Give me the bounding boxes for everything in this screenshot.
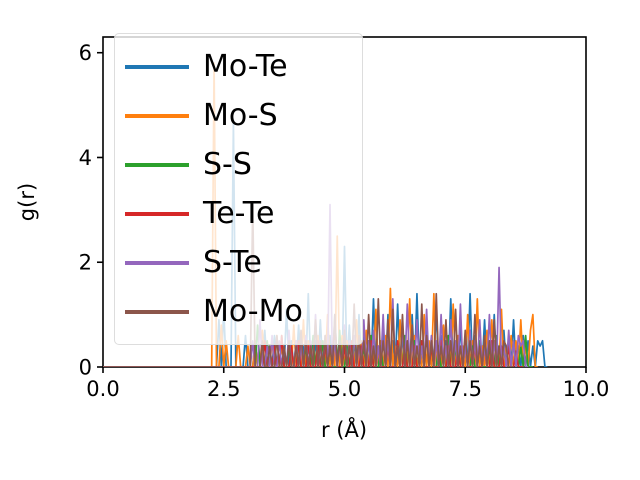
legend-item-4[interactable]: S-Te	[125, 241, 352, 285]
legend-swatch-mo-te	[125, 65, 189, 69]
legend-label-s-s: S-S	[203, 150, 252, 180]
legend-item-3[interactable]: Te-Te	[125, 192, 352, 236]
x-tick-label: 10.0	[563, 377, 610, 401]
x-tick-label: 2.5	[207, 377, 240, 401]
figure: 0.02.55.07.510.0 0246 r (Å) g(r) Mo-Te M…	[0, 0, 640, 480]
legend-item-2[interactable]: S-S	[125, 143, 352, 187]
legend-label-te-te: Te-Te	[203, 199, 274, 229]
legend-swatch-s-te	[125, 261, 189, 265]
y-axis-tick-labels: 0246	[79, 41, 92, 379]
x-axis-tick-labels: 0.02.55.07.510.0	[86, 377, 609, 401]
x-tick-label: 7.5	[449, 377, 482, 401]
legend-label-s-te: S-Te	[203, 248, 262, 278]
legend-swatch-s-s	[125, 163, 189, 167]
legend-label-mo-te: Mo-Te	[203, 52, 288, 82]
y-tick-label: 0	[79, 356, 92, 380]
x-tick-label: 5.0	[328, 377, 361, 401]
legend-item-5[interactable]: Mo-Mo	[125, 290, 352, 334]
x-axis-ticks	[103, 367, 586, 373]
x-tick-label: 0.0	[86, 377, 119, 401]
legend-label-mo-mo: Mo-Mo	[203, 297, 303, 327]
y-tick-label: 2	[79, 251, 92, 275]
legend-label-mo-s: Mo-S	[203, 101, 278, 131]
legend-swatch-mo-s	[125, 114, 189, 118]
legend-swatch-te-te	[125, 212, 189, 216]
y-axis-ticks	[97, 53, 103, 367]
legend-item-0[interactable]: Mo-Te	[125, 45, 352, 89]
x-axis-label: r (Å)	[321, 416, 367, 442]
y-tick-label: 6	[79, 41, 92, 65]
y-tick-label: 4	[79, 146, 92, 170]
y-axis-label: g(r)	[15, 183, 39, 221]
legend-swatch-mo-mo	[125, 310, 189, 314]
legend-item-1[interactable]: Mo-S	[125, 94, 352, 138]
legend[interactable]: Mo-Te Mo-S S-S Te-Te S-Te Mo-Mo	[114, 33, 363, 345]
